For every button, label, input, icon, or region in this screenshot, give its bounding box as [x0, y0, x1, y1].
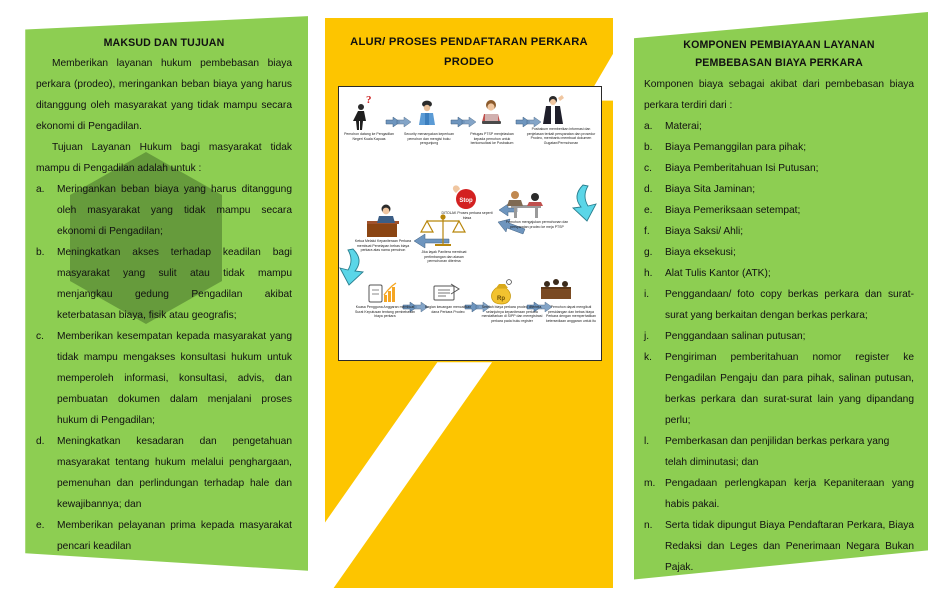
list-item-text: Memberikan pelayanan prima kepada masyar…	[57, 520, 292, 552]
security-guard-icon	[419, 101, 435, 125]
list-item-text: Biaya Pemeriksaan setempat;	[665, 205, 800, 216]
list-item-marker: d.	[644, 179, 662, 200]
flow-node-caption: Pemohon datang ke Pengadilan Negeri Kual…	[341, 132, 397, 141]
list-item-marker: a.	[36, 179, 54, 200]
list-item-marker: e.	[36, 515, 54, 536]
list-item-text: Biaya eksekusi;	[665, 247, 736, 258]
list-item-marker: m.	[644, 473, 662, 494]
list-item-marker: c.	[644, 158, 662, 179]
list-item: b.Meningkatkan akses terhadap keadilan b…	[36, 242, 292, 326]
flow-node: Bagian keuangan mencairkan dana Perkara …	[423, 305, 473, 314]
chart-document-icon	[369, 283, 396, 302]
list-item: c.Memberikan kesempatan kepada masyaraka…	[36, 326, 292, 431]
list-item-text: Penggandaan/ foto copy berkas perkara da…	[665, 289, 914, 321]
money-transfer-icon	[434, 284, 459, 300]
flow-node-caption: Ketua Melalui Kepaniteraan Perkara membu…	[353, 239, 413, 253]
desk-meeting-icon	[507, 191, 543, 218]
flow-node: Petugas PTSP menjelaskan kepada pemohon …	[465, 132, 519, 146]
flow-node: Ketua Melalui Kepaniteraan Perkara membu…	[353, 239, 413, 253]
flow-node: Jika layak Panitera membuat pertimbangan…	[415, 250, 473, 264]
cyan-arrow-down-left	[340, 249, 363, 285]
mid-panel-title: ALUR/ PROSES PENDAFTARAN PERKARA PRODEO	[325, 32, 613, 72]
lawyer-icon	[543, 95, 564, 124]
list-item-marker: n.	[644, 515, 662, 536]
flow-node-caption: Security menanyakan keperluan pemohon da…	[401, 132, 457, 146]
right-heading-line-1: KOMPONEN PEMBIAYAAN LAYANAN	[644, 36, 914, 54]
svg-text:?: ?	[366, 94, 372, 106]
flow-node-caption: Jika layak Panitera membuat pertimbangan…	[415, 250, 473, 264]
list-item: n.Serta tidak dipungut Biaya Pendaftaran…	[644, 515, 914, 578]
list-item-marker: k.	[644, 347, 662, 368]
list-item: e.Memberikan pelayanan prima kepada masy…	[36, 515, 292, 557]
flow-node-caption: Kuasa Pengguna Anggaran membuat Surat Ke…	[355, 305, 415, 319]
left-panel-heading: MAKSUD DAN TUJUAN	[36, 34, 292, 52]
list-item-text: Memberikan kesempatan kepada masyarakat …	[57, 331, 292, 426]
cyan-arrow-down-right	[573, 185, 596, 221]
flow-node: Posbakum memberikan informasi dan penjel…	[525, 127, 597, 145]
list-item-text: Biaya Pemanggilan para pihak;	[665, 142, 806, 153]
left-intro-paragraph-2: Tujuan Layanan Hukum bagi masyarakat tid…	[36, 137, 292, 179]
flow-node: Pemohon datang ke Pengadilan Negeri Kual…	[341, 132, 397, 141]
brochure-page: MAKSUD DAN TUJUAN Memberikan layanan huk…	[0, 0, 936, 612]
money-bag-icon: Rp	[492, 280, 512, 304]
list-item-text: Alat Tulis Kantor (ATK);	[665, 268, 771, 279]
list-item-marker: j.	[644, 326, 662, 347]
list-item-text: Biaya Pemberitahuan Isi Putusan;	[665, 163, 818, 174]
list-item-marker: l.	[644, 431, 662, 452]
list-item: d.Meningkatkan kesadaran dan pengetahuan…	[36, 431, 292, 515]
list-item-marker: h.	[644, 263, 662, 284]
list-item: j.Penggandaan salinan putusan;	[644, 326, 914, 347]
flow-node: Setelah biaya perkara prodeo diterima, s…	[481, 305, 543, 323]
courtroom-panel-icon	[541, 279, 571, 299]
list-item-text: Pengiriman pemberitahuan nomor register …	[665, 352, 914, 426]
flow-node-caption: Petugas PTSP menjelaskan kepada pemohon …	[465, 132, 519, 146]
stop-sign-icon: Stop	[453, 185, 476, 209]
list-item: a.Meringankan beban biaya yang harus dit…	[36, 179, 292, 242]
flow-node-caption: Pemohon dapat mengikuti persidangan dan …	[543, 305, 599, 323]
flow-node-caption: DITOLAK Proses perkara seperti biasa	[439, 211, 495, 220]
flow-node-caption: Posbakum memberikan informasi dan penjel…	[525, 127, 597, 145]
list-item: b.Biaya Pemanggilan para pihak;	[644, 137, 914, 158]
list-item: c.Biaya Pemberitahuan Isi Putusan;	[644, 158, 914, 179]
list-item-text: Meningkatkan akses terhadap keadilan bag…	[57, 247, 292, 321]
list-item-text: Biaya Sita Jaminan;	[665, 184, 755, 195]
flow-node: Security menanyakan keperluan pemohon da…	[401, 132, 457, 146]
list-item: e.Biaya Pemeriksaan setempat;	[644, 200, 914, 221]
list-item-text: Pemberkasan dan penjilidan berkas perkar…	[665, 436, 889, 468]
list-item-text: Meningkatkan kesadaran dan pengetahuan m…	[57, 436, 292, 510]
left-intro-paragraph-1: Memberikan layanan hukum pembebasan biay…	[36, 53, 292, 137]
flow-node-caption: Bagian keuangan mencairkan dana Perkara …	[423, 305, 473, 314]
list-item: m.Pengadaan perlengkapan kerja Kepaniter…	[644, 473, 914, 515]
right-panel-list: a.Materai;b.Biaya Pemanggilan para pihak…	[644, 116, 914, 578]
list-item-text: Biaya Saksi/ Ahli;	[665, 226, 743, 237]
right-intro-paragraph: Komponen biaya sebagai akibat dari pembe…	[644, 74, 914, 116]
list-item-text: Materai;	[665, 121, 702, 132]
panel-komponen-pembiayaan: KOMPONEN PEMBIAYAAN LAYANAN PEMBEBASAN B…	[628, 12, 928, 594]
list-item-text: Pengadaan perlengkapan kerja Kepaniteraa…	[665, 478, 914, 510]
left-panel-list: a.Meringankan beban biaya yang harus dit…	[36, 179, 292, 557]
judge-desk-icon	[367, 205, 399, 238]
list-item-marker: g.	[644, 242, 662, 263]
list-item: k.Pengiriman pemberitahuan nomor registe…	[644, 347, 914, 431]
person-question-icon: ?	[353, 94, 372, 130]
officer-laptop-icon	[482, 100, 501, 124]
svg-text:Rp: Rp	[497, 296, 505, 302]
list-item: h.Alat Tulis Kantor (ATK);	[644, 263, 914, 284]
flow-diagram: ?	[338, 86, 602, 361]
list-item: g.Biaya eksekusi;	[644, 242, 914, 263]
list-item-text: Meringankan beban biaya yang harus ditan…	[57, 184, 292, 237]
flow-node-caption: Pemohon mengajukan permohonan dan persya…	[505, 220, 569, 229]
svg-text:Stop: Stop	[459, 198, 473, 204]
right-heading-line-2: PEMBEBASAN BIAYA PERKARA	[644, 54, 914, 72]
list-item: f.Biaya Saksi/ Ahli;	[644, 221, 914, 242]
flow-node: DITOLAK Proses perkara seperti biasa	[439, 211, 495, 220]
list-item-marker: e.	[644, 200, 662, 221]
flow-node: Pemohon dapat mengikuti persidangan dan …	[543, 305, 599, 323]
list-item-marker: b.	[36, 242, 54, 263]
list-item-text: Serta tidak dipungut Biaya Pendaftaran P…	[665, 520, 914, 573]
list-item-marker: d.	[36, 431, 54, 452]
list-item: l.Pemberkasan dan penjilidan berkas perk…	[644, 431, 914, 473]
list-item-marker: a.	[644, 116, 662, 137]
list-item-text: Penggandaan salinan putusan;	[665, 331, 805, 342]
mid-title-line-2: PRODEO	[325, 52, 613, 72]
list-item: i.Penggandaan/ foto copy berkas perkara …	[644, 284, 914, 326]
list-item-marker: b.	[644, 137, 662, 158]
list-item-marker: f.	[644, 221, 662, 242]
flow-node: Kuasa Pengguna Anggaran membuat Surat Ke…	[355, 305, 415, 319]
list-item-marker: c.	[36, 326, 54, 347]
mid-title-line-1: ALUR/ PROSES PENDAFTARAN PERKARA	[325, 32, 613, 52]
list-item: d.Biaya Sita Jaminan;	[644, 179, 914, 200]
list-item: a.Materai;	[644, 116, 914, 137]
panel-maksud-dan-tujuan: MAKSUD DAN TUJUAN Memberikan layanan huk…	[18, 12, 308, 594]
list-item-marker: i.	[644, 284, 662, 305]
flow-node: Pemohon mengajukan permohonan dan persya…	[505, 220, 569, 229]
flow-node-caption: Setelah biaya perkara prodeo diterima, s…	[481, 305, 543, 323]
